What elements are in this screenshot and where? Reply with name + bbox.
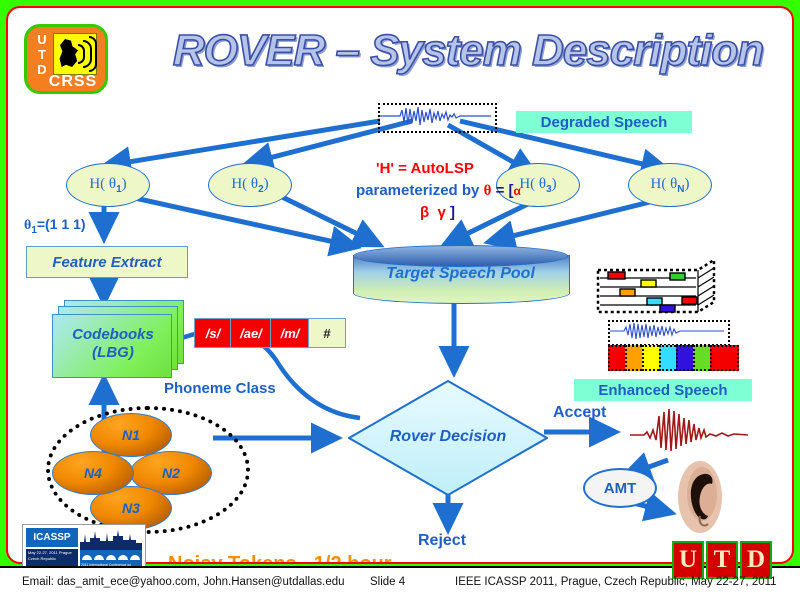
codebooks-label: Codebooks (LBG) [54,326,172,362]
hypothesis-ellipse-h1: H( θ1) [66,163,150,207]
rover-decision-diamond: Rover Decision [348,380,548,496]
crss-logo-panel [53,33,97,75]
target-speech-pool-cylinder: Target Speech Pool [353,245,568,309]
hypothesis-label-hn: H( θN) [651,176,690,195]
speaker-figure-icon [58,39,78,67]
hypothesis-label-h3: H( θ3) [519,176,556,195]
target-speech-pool-label: Target Speech Pool [353,265,568,283]
footer-email: Email: das_amit_ece@yahoo.com, John.Hans… [22,576,345,588]
hypothesis-label-h1: H( θ1) [89,176,126,195]
theta-assignment-label: θ1=(1 1 1) [24,216,86,236]
neuron-n1: N1 [90,413,172,457]
footer-conference: IEEE ICASSP 2011, Prague, Czech Republic… [455,576,777,588]
hypothesis-label-h2: H( θ2) [231,176,268,195]
rover-decision-label: Rover Decision [348,428,548,446]
degraded-speech-waveform-box [378,103,497,133]
icassp-logo-name: ICASSP [26,528,78,547]
neuron-n4: N4 [52,451,134,495]
phoneme-cell-ae: /ae/ [230,318,272,348]
color-segment-7 [710,345,739,371]
hypothesis-ellipse-hn: H( θN) [628,163,712,207]
footer-slide-number: Slide 4 [370,576,405,588]
phoneme-cell-m: /m/ [270,318,310,348]
hypothesis-ellipse-h2: H( θ2) [208,163,292,207]
waveform-icon [610,322,724,340]
icassp-logo: ICASSP May 22-27, 2011 Prague Czech Repu… [22,524,146,572]
autolsp-line1: 'H' = AutoLSP [376,160,474,177]
slide-canvas: ROVER – System Description U T D CRSS De… [0,0,800,598]
enhanced-speech-label: Enhanced Speech [574,379,752,401]
accept-label: Accept [553,404,606,422]
icassp-logo-skyline [80,528,142,550]
reject-label: Reject [418,532,466,550]
waveform-icon [380,105,491,127]
sound-wave-icon [89,36,97,72]
phoneme-cell-boundary: # [308,318,346,348]
ear-icon [670,458,730,536]
slide-inner-frame: ROVER – System Description U T D CRSS De… [6,6,794,564]
autolsp-line3: β γ ] [420,204,455,221]
phoneme-class-label: Phoneme Class [164,380,276,397]
crss-logo-text: CRSS [41,73,105,91]
feature-extract-box: Feature Extract [26,246,188,278]
enhanced-speech-waveform-icon [630,404,750,452]
cylinder-top [353,245,568,267]
slide-footer: Email: das_amit_ece@yahoo.com, John.Hans… [0,572,800,596]
token-waveform-box [608,320,730,346]
autolsp-line2: parameterized by θ = [α [356,182,521,200]
phoneme-cell-s: /s/ [194,318,232,348]
page-title: ROVER – System Description [158,24,778,80]
crss-logo-letter-u: U [33,32,51,47]
token-database-3d-box [594,258,720,320]
utd-crss-logo: U T D CRSS [24,24,108,94]
crss-logo-letter-t: T [33,47,51,62]
noisy-tokens-label: Noisy Tokens ~1/2 hour [168,553,392,564]
amt-ellipse: AMT [583,468,657,508]
degraded-speech-label: Degraded Speech [516,111,692,133]
